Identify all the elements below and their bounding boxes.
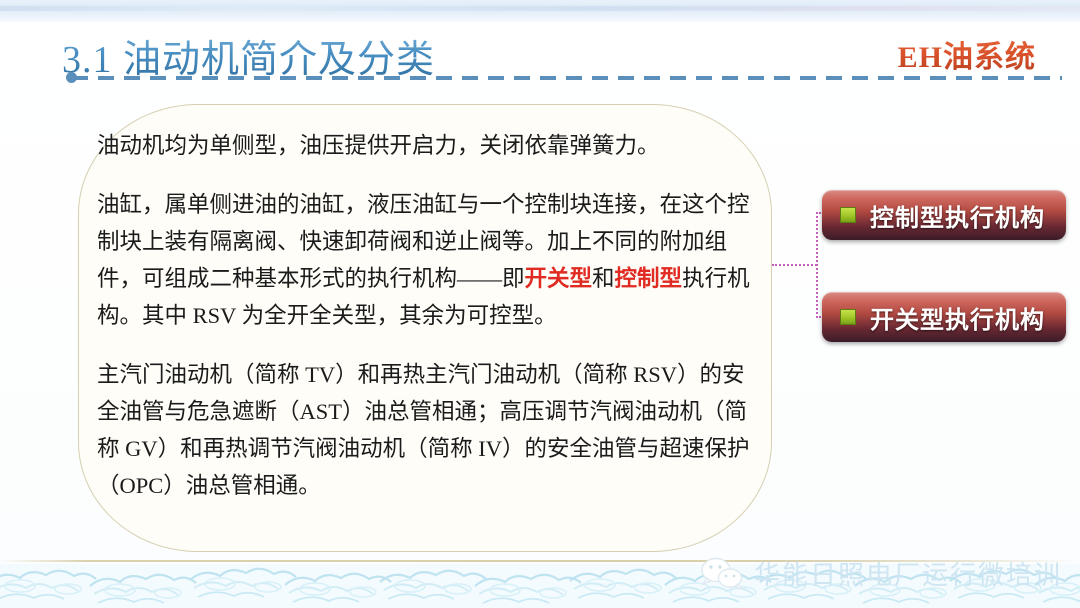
- section-label: EH油系统: [898, 32, 1036, 76]
- content-text-block: 油动机均为单侧型，油压提供开启力，关闭依靠弹簧力。 油缸，属单侧进油的油缸，液压…: [97, 127, 757, 504]
- connector-stem: [772, 264, 817, 266]
- paragraph-1: 油动机均为单侧型，油压提供开启力，关闭依靠弹簧力。: [97, 127, 757, 164]
- paragraph-2-text-b: 和: [592, 266, 615, 291]
- top-gradient-band: [0, 0, 1080, 22]
- callout-switch-type-actuator[interactable]: 开关型执行机构: [822, 292, 1066, 342]
- highlight-control-type: 控制型: [615, 266, 683, 291]
- callout-label-control-type: 控制型执行机构: [870, 198, 1045, 233]
- bracket-connector: [772, 212, 824, 318]
- connector-vertical: [816, 212, 818, 318]
- watermark: 华能日照电厂运行微培训: [700, 555, 1062, 592]
- paragraph-2: 油缸，属单侧进油的油缸，液压油缸与一个控制块连接，在这个控制块上装有隔离阀、快速…: [97, 186, 757, 334]
- title-underline-dashed: [72, 76, 1062, 80]
- callout-control-type-actuator[interactable]: 控制型执行机构: [822, 190, 1066, 240]
- green-square-bullet-icon: [840, 207, 856, 223]
- paragraph-3: 主汽门油动机（简称 TV）和再热主汽门油动机（简称 RSV）的安全油管与危急遮断…: [97, 356, 757, 504]
- slide-canvas: 3.1 油动机简介及分类 EH油系统 油动机均为单侧型，油压提供开启力，关闭依靠…: [0, 0, 1080, 608]
- content-panel: 油动机均为单侧型，油压提供开启力，关闭依靠弹簧力。 油缸，属单侧进油的油缸，液压…: [78, 104, 772, 552]
- callout-label-switch-type: 开关型执行机构: [870, 300, 1045, 335]
- wechat-icon: [700, 557, 744, 591]
- green-square-bullet-icon: [840, 309, 856, 325]
- page-title: 3.1 油动机简介及分类: [62, 28, 435, 83]
- highlight-switch-type: 开关型: [525, 266, 593, 291]
- watermark-text: 华能日照电厂运行微培训: [754, 555, 1062, 592]
